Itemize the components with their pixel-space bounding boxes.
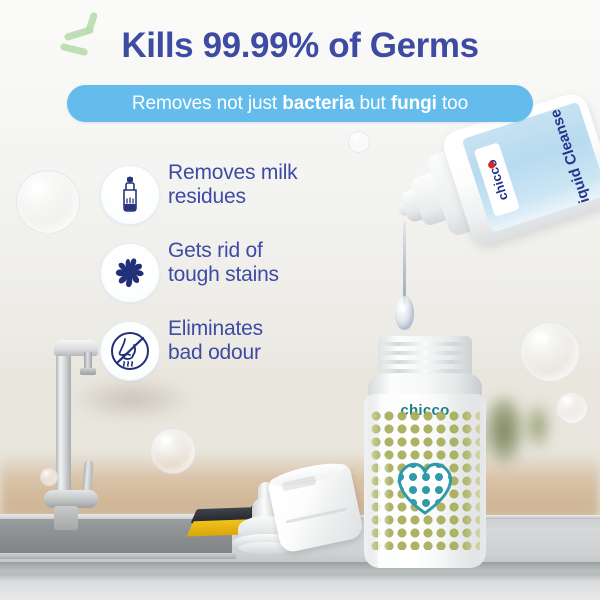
- bottle-brush-icon: [100, 165, 160, 225]
- feature-item-bad-odour: Eliminatesbad odour: [100, 319, 350, 397]
- feature-list: Removes milkresidues Gets rid oftough st…: [100, 163, 350, 397]
- counter-shadow: [0, 562, 600, 571]
- bottle-thread: [380, 360, 470, 364]
- soap-bubble: [150, 428, 196, 474]
- faucet-column: [56, 348, 71, 498]
- drip-highlight: [400, 304, 406, 312]
- page-title: Kills 99.99% of Germs: [0, 28, 600, 63]
- feature-item-tough-stains: Gets rid oftough stains: [100, 241, 350, 319]
- soap-bubble: [520, 322, 580, 382]
- soap-bubble: [40, 468, 58, 486]
- liquid-drip: [393, 222, 417, 340]
- faucet-spout-tip: [80, 368, 96, 375]
- baby-bottle-body: chicco: [364, 394, 486, 568]
- feature-text: Eliminatesbad odour: [168, 317, 358, 364]
- soap-bubble: [16, 170, 80, 234]
- bottle-gloss-highlight: [378, 456, 390, 568]
- feature-item-milk-residues: Removes milkresidues: [100, 163, 350, 241]
- no-odour-nose-icon: [100, 321, 160, 381]
- soap-bubble: [556, 392, 588, 424]
- bottle-thread: [380, 351, 470, 355]
- feature-text: Gets rid oftough stains: [168, 239, 358, 286]
- bottle-cap: [267, 462, 366, 558]
- feature-text: Removes milkresidues: [168, 161, 358, 208]
- subheadline-text: Removes not just bacteria but fungi too: [132, 93, 468, 115]
- bottle-thread: [380, 369, 470, 373]
- advertisement-canvas: chicco: [0, 0, 600, 600]
- baby-bottle: chicco: [360, 336, 490, 568]
- drip-droplet: [395, 296, 414, 330]
- kitchen-faucet: [26, 330, 106, 520]
- bottle-thread: [380, 342, 470, 346]
- sink-lip: [0, 553, 236, 559]
- soap-bubble: [348, 131, 370, 153]
- stain-splat-icon: [100, 243, 160, 303]
- faucet-base: [54, 506, 78, 530]
- cleanser-product-name: Liquid Cleanser: [504, 109, 600, 217]
- subheadline-banner: Removes not just bacteria but fungi too: [67, 85, 533, 122]
